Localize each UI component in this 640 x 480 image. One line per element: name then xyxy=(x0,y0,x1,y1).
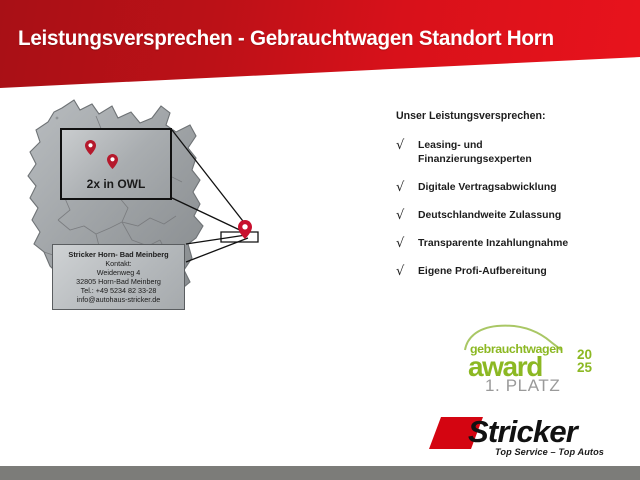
address-line-email: info@autohaus-stricker.de xyxy=(57,295,180,304)
footer-bar xyxy=(0,466,640,480)
slide-root: Leistungsversprechen - Gebrauchtwagen St… xyxy=(0,0,640,480)
check-icon: √ xyxy=(396,181,418,194)
award-year: 20 25 xyxy=(577,349,592,374)
promise-item-label: Leasing- und Finanzierungsexperten xyxy=(418,139,532,167)
owl-callout-box: 2x in OWL xyxy=(60,128,172,200)
award-place-label: 1. PLATZ xyxy=(485,376,560,396)
promise-item-label: Digitale Vertragsabwicklung xyxy=(418,181,557,195)
promise-item: √ Transparente Inzahlungnahme xyxy=(396,237,634,251)
stricker-logo-tagline: Top Service – Top Autos xyxy=(495,447,604,457)
check-icon: √ xyxy=(396,237,418,250)
address-line-phone: Tel.: +49 5234 82 33-28 xyxy=(57,286,180,295)
address-line-name: Stricker Horn- Bad Meinberg xyxy=(57,250,180,259)
address-line-city: 32805 Horn-Bad Meinberg xyxy=(57,277,180,286)
promise-item: √ Leasing- und Finanzierungsexperten xyxy=(396,139,634,167)
address-line-contact: Kontakt: xyxy=(57,259,180,268)
stricker-logo: Stricker Top Service – Top Autos xyxy=(427,411,627,463)
promise-item-label: Transparente Inzahlungnahme xyxy=(418,237,568,251)
header-banner: Leistungsversprechen - Gebrauchtwagen St… xyxy=(0,0,640,90)
check-icon: √ xyxy=(396,139,418,152)
promise-item: √ Digitale Vertragsabwicklung xyxy=(396,181,634,195)
check-icon: √ xyxy=(396,209,418,222)
award-year-bottom: 25 xyxy=(577,362,592,375)
promise-heading: Unser Leistungsversprechen: xyxy=(396,110,634,122)
promise-item: √ Eigene Profi-Aufbereitung xyxy=(396,265,634,279)
promise-item: √ Deutschlandweite Zulassung xyxy=(396,209,634,223)
promise-item-label: Deutschlandweite Zulassung xyxy=(418,209,561,223)
owl-pin-icon-2 xyxy=(107,154,118,169)
map-pin-icon xyxy=(238,220,252,239)
map-area: 2x in OWL Stricker Horn- Bad Meinberg Ko… xyxy=(0,92,380,402)
promise-item-label: Eigene Profi-Aufbereitung xyxy=(418,265,547,279)
stricker-logo-name: Stricker xyxy=(468,414,577,450)
promise-list: Unser Leistungsversprechen: √ Leasing- u… xyxy=(396,110,634,293)
address-box: Stricker Horn- Bad Meinberg Kontakt: Wei… xyxy=(52,244,185,310)
owl-callout-label: 2x in OWL xyxy=(62,177,170,191)
award-badge: gebrauchtwagen award 20 25 1. PLATZ xyxy=(427,322,597,394)
page-title: Leistungsversprechen - Gebrauchtwagen St… xyxy=(18,26,554,51)
owl-pin-icon-1 xyxy=(85,140,96,155)
address-line-street: Weidenweg 4 xyxy=(57,268,180,277)
check-icon: √ xyxy=(396,265,418,278)
